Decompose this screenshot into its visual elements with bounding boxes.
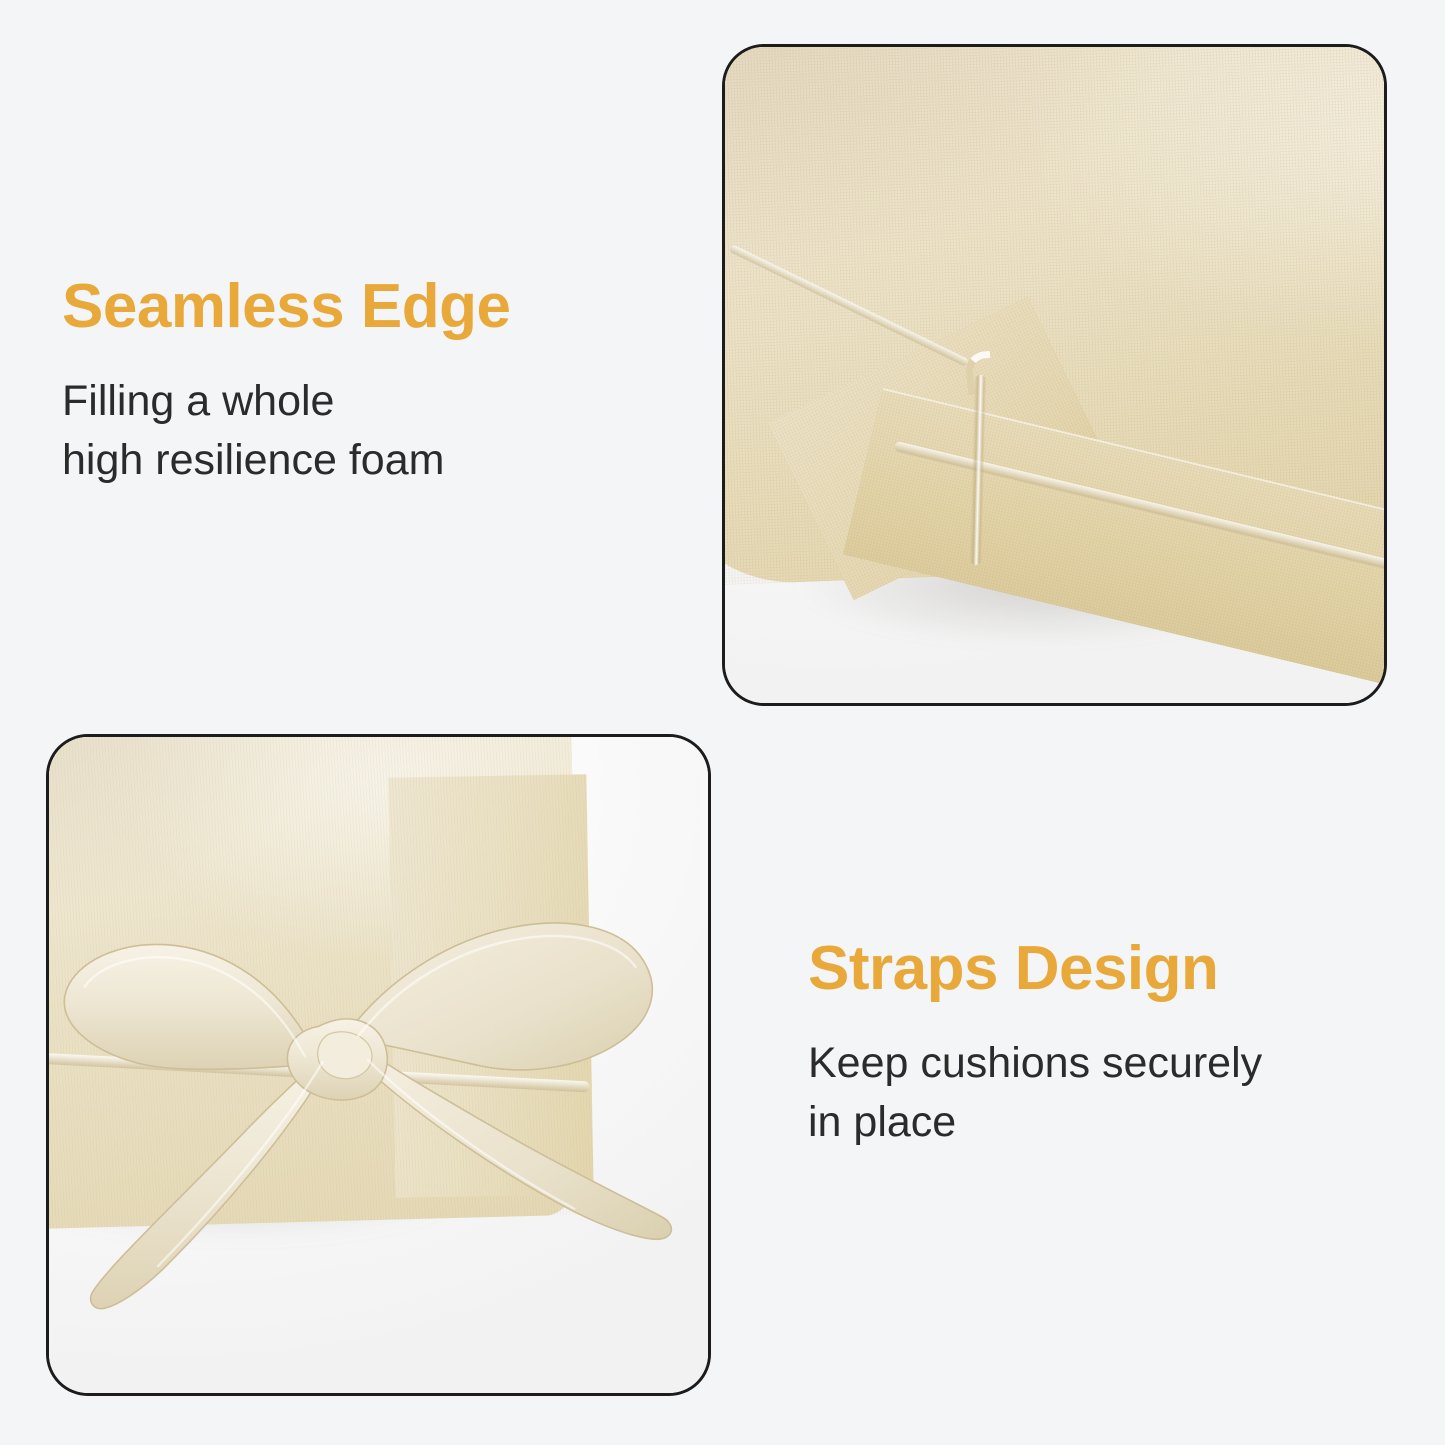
feature-text-straps-design: Straps Design Keep cushions securely in …: [808, 938, 1262, 1153]
strap-bow-illustration: [49, 737, 708, 1393]
feature-heading-seamless-edge: Seamless Edge: [62, 276, 510, 338]
strap-knot-highlight: [318, 1032, 372, 1079]
strap-tail-right: [362, 1048, 671, 1239]
strap-loop-left: [64, 944, 322, 1069]
cushion-strap-photo: [49, 737, 708, 1393]
feature-text-seamless-edge: Seamless Edge Filling a whole high resil…: [62, 276, 510, 491]
cushion-corner-photo: [725, 47, 1384, 703]
feature-image-seamless-edge: [722, 44, 1387, 706]
feature-description-straps-design: Keep cushions securely in place: [808, 1034, 1262, 1153]
feature-heading-straps-design: Straps Design: [808, 938, 1262, 1000]
feature-description-seamless-edge: Filling a whole high resilience foam: [62, 372, 510, 491]
infographic-stage: Seamless Edge Filling a whole high resil…: [0, 0, 1445, 1445]
feature-image-straps-design: [46, 734, 711, 1396]
strap-tail-left: [91, 1052, 329, 1309]
